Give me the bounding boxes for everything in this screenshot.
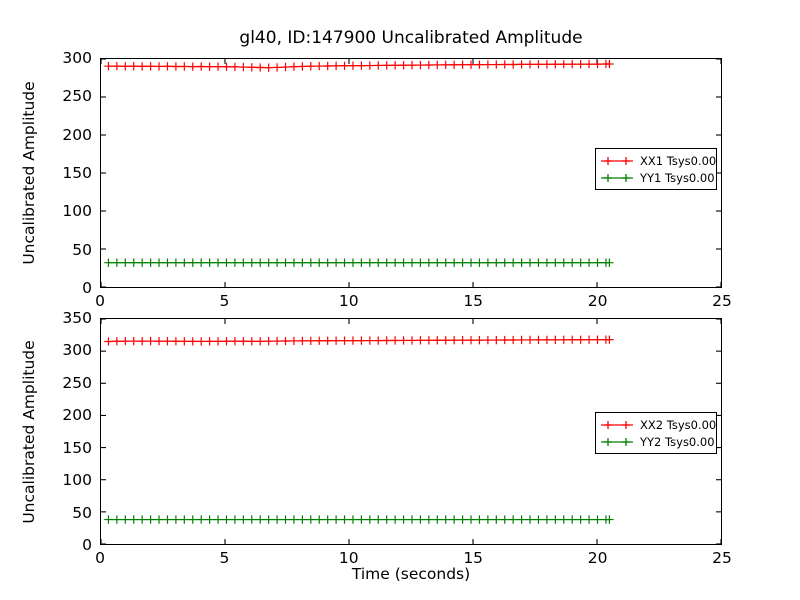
y-tick-label: 100 (62, 471, 92, 489)
x-tick-label: 0 (95, 292, 105, 310)
figure-title: gl40, ID:147900 Uncalibrated Amplitude (100, 28, 722, 48)
series-marker (256, 63, 264, 71)
series-marker (172, 62, 180, 70)
series-marker (155, 337, 163, 345)
series-marker (543, 515, 551, 523)
y-tick-label: 250 (62, 374, 92, 392)
series-marker (138, 259, 146, 267)
series-marker (383, 259, 391, 267)
series-marker (560, 60, 568, 68)
series-marker (467, 515, 475, 523)
series-marker (231, 63, 239, 71)
top-plot-xtick-labels: 0510152025 (100, 292, 722, 314)
series-marker (433, 515, 441, 523)
series-marker (551, 60, 559, 68)
series-marker (475, 336, 483, 344)
series-marker (180, 259, 188, 267)
series-marker (138, 515, 146, 523)
series-marker (214, 259, 222, 267)
bottom-plot-ylabel: Uncalibrated Amplitude (20, 340, 38, 523)
series-marker (256, 337, 264, 345)
y-tick-label: 250 (62, 87, 92, 105)
legend-line-sample (600, 435, 634, 449)
series-marker (340, 62, 348, 70)
series-marker (323, 62, 331, 70)
series-marker (172, 337, 180, 345)
series-marker (366, 336, 374, 344)
y-tick-label: 150 (62, 164, 92, 182)
series-marker (163, 62, 171, 70)
series-marker (189, 62, 197, 70)
series-marker (155, 515, 163, 523)
series-marker (585, 259, 593, 267)
series-marker (180, 62, 188, 70)
series-marker (307, 337, 315, 345)
series-marker (425, 61, 433, 69)
data-series (104, 515, 613, 523)
legend-label: YY1 Tsys0.00 (640, 171, 715, 185)
legend-entry[interactable]: XX2 Tsys0.00 (600, 416, 710, 433)
series-marker (197, 62, 205, 70)
data-series (104, 335, 613, 345)
series-marker (113, 62, 121, 70)
series-marker (163, 337, 171, 345)
series-marker (442, 61, 450, 69)
series-marker (543, 336, 551, 344)
series-marker (104, 337, 112, 345)
series-marker (467, 61, 475, 69)
series-marker (357, 259, 365, 267)
series-marker (593, 60, 601, 68)
series-marker (501, 336, 509, 344)
series-marker (349, 515, 357, 523)
series-marker (576, 336, 584, 344)
series-marker (433, 336, 441, 344)
series-marker (399, 61, 407, 69)
x-tick-label: 15 (463, 292, 483, 310)
series-marker (534, 515, 542, 523)
series-marker (231, 259, 239, 267)
series-marker (222, 259, 230, 267)
series-marker (357, 61, 365, 69)
series-marker (593, 259, 601, 267)
series-marker (205, 515, 213, 523)
series-marker (585, 60, 593, 68)
series-marker (332, 515, 340, 523)
series-marker (256, 515, 264, 523)
series-marker (450, 336, 458, 344)
bottom-plot-xlabel: Time (seconds) (100, 565, 722, 583)
series-marker (239, 259, 247, 267)
series-marker (130, 62, 138, 70)
series-marker (509, 515, 517, 523)
series-marker (332, 62, 340, 70)
y-tick-label: 0 (82, 279, 92, 297)
series-marker (534, 60, 542, 68)
data-series (104, 259, 613, 267)
series-marker (315, 515, 323, 523)
series-marker (239, 63, 247, 71)
series-marker (290, 337, 298, 345)
series-marker (585, 336, 593, 344)
series-marker (467, 259, 475, 267)
x-tick-label: 25 (712, 292, 732, 310)
series-marker (509, 336, 517, 344)
legend-label: XX1 Tsys0.00 (640, 154, 716, 168)
series-marker (104, 515, 112, 523)
series-marker (467, 336, 475, 344)
series-marker (551, 259, 559, 267)
series-marker (425, 515, 433, 523)
series-marker (104, 259, 112, 267)
y-tick-label: 0 (82, 536, 92, 554)
series-marker (568, 60, 576, 68)
series-marker (484, 336, 492, 344)
series-marker (104, 62, 112, 70)
series-marker (146, 259, 154, 267)
series-marker (155, 259, 163, 267)
series-marker (130, 515, 138, 523)
series-marker (526, 259, 534, 267)
series-marker (264, 337, 272, 345)
series-marker (458, 61, 466, 69)
x-tick-label: 5 (219, 292, 229, 310)
series-marker (576, 515, 584, 523)
series-marker (568, 336, 576, 344)
series-marker (307, 62, 315, 70)
series-marker (551, 336, 559, 344)
series-marker (450, 61, 458, 69)
series-marker (366, 259, 374, 267)
series-marker (298, 337, 306, 345)
series-marker (189, 259, 197, 267)
series-marker (315, 259, 323, 267)
series-marker (180, 515, 188, 523)
bottom-plot-ytick-labels: 050100150200250300350 (46, 318, 92, 545)
series-marker (560, 259, 568, 267)
series-marker (585, 515, 593, 523)
series-marker (281, 63, 289, 71)
series-marker (130, 259, 138, 267)
series-marker (340, 259, 348, 267)
series-marker (189, 337, 197, 345)
series-marker (391, 336, 399, 344)
series-marker (492, 60, 500, 68)
series-marker (146, 515, 154, 523)
series-marker (298, 515, 306, 523)
series-marker (374, 336, 382, 344)
series-marker (323, 337, 331, 345)
series-marker (332, 259, 340, 267)
y-tick-label: 50 (72, 504, 92, 522)
series-marker (180, 337, 188, 345)
series-marker (374, 515, 382, 523)
legend-entry[interactable]: XX1 Tsys0.00 (600, 152, 710, 169)
series-marker (593, 515, 601, 523)
series-marker (509, 60, 517, 68)
series-marker (332, 337, 340, 345)
series-marker (425, 259, 433, 267)
y-tick-label: 200 (62, 406, 92, 424)
series-marker (433, 259, 441, 267)
series-marker (416, 61, 424, 69)
series-marker (222, 337, 230, 345)
series-marker (416, 259, 424, 267)
series-marker (121, 259, 129, 267)
series-marker (450, 259, 458, 267)
series-marker (349, 259, 357, 267)
series-marker (264, 64, 272, 72)
top-plot-ytick-labels: 050100150200250300 (46, 58, 92, 288)
series-marker (458, 515, 466, 523)
y-tick-label: 100 (62, 202, 92, 220)
series-marker (256, 259, 264, 267)
series-marker (172, 515, 180, 523)
series-marker (205, 337, 213, 345)
series-marker (130, 337, 138, 345)
series-marker (357, 336, 365, 344)
series-marker (248, 63, 256, 71)
series-marker (264, 515, 272, 523)
series-marker (568, 259, 576, 267)
series-marker (189, 515, 197, 523)
series-marker (576, 60, 584, 68)
series-marker (517, 336, 525, 344)
series-marker (458, 259, 466, 267)
series-marker (408, 515, 416, 523)
series-marker (290, 63, 298, 71)
series-marker (205, 259, 213, 267)
series-marker (146, 337, 154, 345)
series-marker (458, 336, 466, 344)
series-marker (391, 259, 399, 267)
series-marker (264, 259, 272, 267)
series-marker (307, 259, 315, 267)
series-marker (408, 61, 416, 69)
x-tick-label: 20 (588, 292, 608, 310)
series-marker (113, 259, 121, 267)
series-marker (399, 259, 407, 267)
series-marker (560, 336, 568, 344)
legend-label: XX2 Tsys0.00 (640, 418, 716, 432)
series-marker (442, 259, 450, 267)
series-marker (568, 515, 576, 523)
series-marker (526, 336, 534, 344)
series-marker (475, 515, 483, 523)
series-marker (416, 336, 424, 344)
y-tick-label: 300 (62, 341, 92, 359)
series-marker (501, 60, 509, 68)
series-marker (509, 259, 517, 267)
legend-label: YY2 Tsys0.00 (640, 435, 715, 449)
series-marker (239, 515, 247, 523)
data-series (104, 60, 613, 72)
series-marker (425, 336, 433, 344)
series-marker (231, 515, 239, 523)
series-marker (315, 62, 323, 70)
series-marker (349, 62, 357, 70)
series-marker (442, 336, 450, 344)
series-marker (323, 515, 331, 523)
y-tick-label: 200 (62, 126, 92, 144)
series-marker (121, 337, 129, 345)
series-marker (172, 259, 180, 267)
series-marker (374, 61, 382, 69)
series-marker (121, 62, 129, 70)
series-marker (492, 336, 500, 344)
series-marker (416, 515, 424, 523)
series-marker (214, 515, 222, 523)
series-marker (248, 337, 256, 345)
series-marker (408, 259, 416, 267)
series-marker (349, 336, 357, 344)
series-marker (517, 259, 525, 267)
series-marker (121, 515, 129, 523)
series-marker (526, 515, 534, 523)
series-marker (138, 337, 146, 345)
series-marker (163, 515, 171, 523)
series-marker (231, 337, 239, 345)
series-marker (290, 515, 298, 523)
series-marker (222, 63, 230, 71)
legend-entry[interactable]: YY1 Tsys0.00 (600, 169, 710, 186)
series-marker (560, 515, 568, 523)
series-marker (298, 259, 306, 267)
y-tick-label: 50 (72, 241, 92, 259)
series-marker (163, 259, 171, 267)
series-marker (281, 337, 289, 345)
series-marker (138, 62, 146, 70)
series-marker (273, 337, 281, 345)
series-marker (492, 515, 500, 523)
series-marker (517, 515, 525, 523)
series-marker (214, 337, 222, 345)
series-marker (484, 515, 492, 523)
series-marker (526, 60, 534, 68)
matplotlib-figure: gl40, ID:147900 Uncalibrated Amplitude 0… (0, 0, 800, 600)
series-marker (501, 259, 509, 267)
series-marker (442, 515, 450, 523)
series-marker (340, 515, 348, 523)
series-marker (248, 515, 256, 523)
series-marker (205, 63, 213, 71)
series-marker (433, 61, 441, 69)
series-marker (197, 259, 205, 267)
series-marker (290, 259, 298, 267)
legend-line-sample (600, 171, 634, 185)
series-marker (450, 515, 458, 523)
series-marker (534, 259, 542, 267)
series-marker (307, 515, 315, 523)
series-marker (214, 62, 222, 70)
series-marker (113, 337, 121, 345)
bottom-plot-legend[interactable]: XX2 Tsys0.00YY2 Tsys0.00 (595, 412, 717, 454)
y-tick-label: 350 (62, 309, 92, 327)
series-marker (357, 515, 365, 523)
y-tick-label: 150 (62, 439, 92, 457)
series-marker (323, 259, 331, 267)
series-marker (374, 259, 382, 267)
series-marker (399, 515, 407, 523)
y-tick-label: 300 (62, 49, 92, 67)
x-tick-label: 10 (339, 292, 359, 310)
series-marker (408, 336, 416, 344)
series-marker (248, 259, 256, 267)
series-marker (113, 515, 121, 523)
series-marker (534, 336, 542, 344)
series-marker (273, 63, 281, 71)
series-marker (383, 336, 391, 344)
series-marker (543, 259, 551, 267)
series-marker (475, 259, 483, 267)
legend-entry[interactable]: YY2 Tsys0.00 (600, 433, 710, 450)
series-marker (298, 62, 306, 70)
series-marker (340, 337, 348, 345)
legend-line-sample (600, 154, 634, 168)
series-marker (146, 62, 154, 70)
series-marker (273, 515, 281, 523)
series-marker (197, 515, 205, 523)
top-plot-ylabel: Uncalibrated Amplitude (20, 81, 38, 264)
series-marker (391, 61, 399, 69)
series-marker (543, 60, 551, 68)
series-marker (366, 515, 374, 523)
series-marker (399, 336, 407, 344)
series-marker (475, 60, 483, 68)
series-marker (383, 515, 391, 523)
series-marker (391, 515, 399, 523)
series-marker (281, 515, 289, 523)
series-marker (366, 61, 374, 69)
series-marker (281, 259, 289, 267)
series-marker (273, 259, 281, 267)
series-marker (315, 337, 323, 345)
series-marker (383, 61, 391, 69)
series-marker (222, 515, 230, 523)
top-plot-legend[interactable]: XX1 Tsys0.00YY1 Tsys0.00 (595, 148, 717, 190)
legend-line-sample (600, 418, 634, 432)
series-marker (501, 515, 509, 523)
series-marker (155, 62, 163, 70)
series-marker (576, 259, 584, 267)
series-marker (551, 515, 559, 523)
series-marker (517, 60, 525, 68)
series-marker (239, 337, 247, 345)
series-marker (197, 337, 205, 345)
series-marker (492, 259, 500, 267)
series-marker (593, 336, 601, 344)
series-marker (484, 259, 492, 267)
series-marker (484, 60, 492, 68)
